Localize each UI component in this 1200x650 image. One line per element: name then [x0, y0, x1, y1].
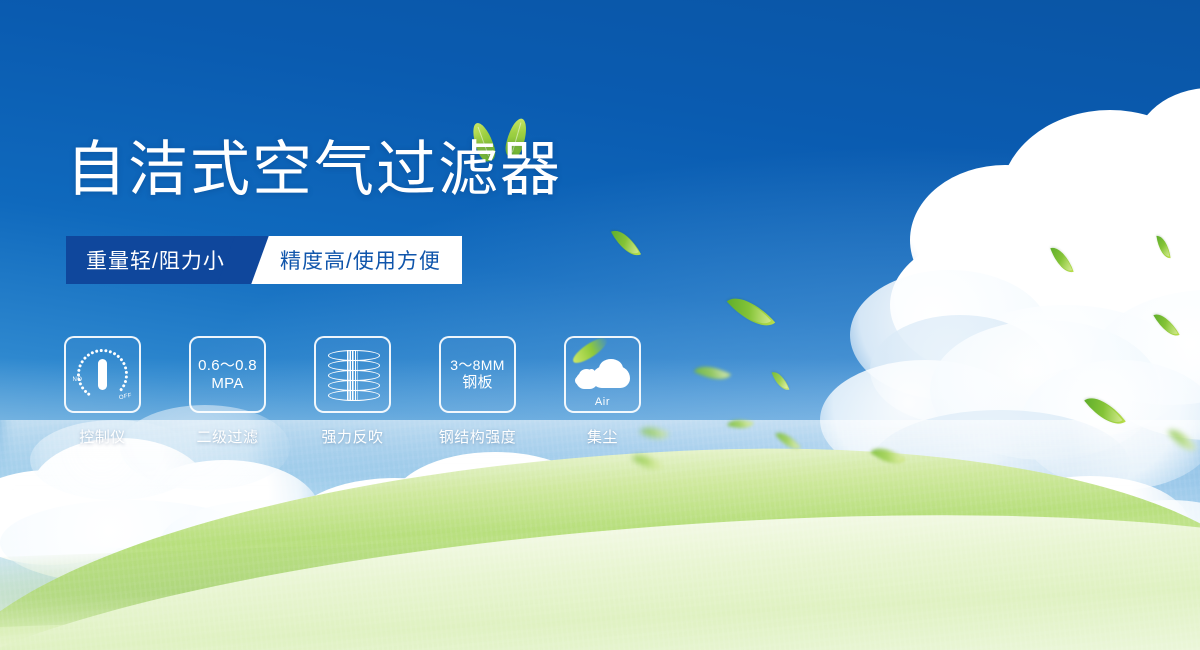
- dust-particle: [588, 369, 595, 376]
- steel-value-line1: 3～8MM: [450, 357, 504, 374]
- air-label: Air: [574, 396, 632, 408]
- feature-label: 控制仪: [79, 426, 126, 447]
- page-title: 自洁式空气过滤器: [66, 140, 562, 200]
- grass-texture: [0, 420, 1200, 650]
- feature-item-pulse-jet[interactable]: 强力反吹: [316, 336, 389, 447]
- feature-label: 二级过滤: [196, 426, 258, 447]
- gauge-icon: NO OFF: [74, 348, 132, 402]
- gauge-needle: [98, 359, 107, 390]
- feature-icon-box: [314, 336, 391, 413]
- feature-label: 强力反吹: [321, 426, 383, 447]
- feature-label: 集尘: [587, 426, 618, 447]
- feature-item-steel-strength[interactable]: 3～8MM 钢板 钢结构强度: [441, 336, 514, 447]
- feature-list: NO OFF 控制仪 0.6～0.8 MPA 二级过滤: [66, 336, 639, 447]
- subtitle-left-segment: 重量轻/阻力小: [66, 236, 243, 284]
- air-cloud-icon: Air: [574, 352, 632, 398]
- filter-stack-icon: [328, 348, 378, 402]
- feature-item-controller[interactable]: NO OFF 控制仪: [66, 336, 139, 447]
- feature-icon-box: Air: [564, 336, 641, 413]
- feature-item-dust-collection[interactable]: Air 集尘: [566, 336, 639, 447]
- feature-item-two-stage-filter[interactable]: 0.6～0.8 MPA 二级过滤: [191, 336, 264, 447]
- feature-icon-box: NO OFF: [64, 336, 141, 413]
- steel-value-line2: 钢板: [462, 374, 493, 392]
- feature-label: 钢结构强度: [439, 426, 517, 447]
- subtitle-bar: 重量轻/阻力小 精度高/使用方便: [66, 236, 462, 284]
- filter-core: [347, 350, 358, 400]
- pressure-value-line2: MPA: [211, 375, 243, 393]
- feature-icon-box: 3～8MM 钢板: [439, 336, 516, 413]
- feature-icon-box: 0.6～0.8 MPA: [189, 336, 266, 413]
- subtitle-right-segment: 精度高/使用方便: [243, 236, 462, 284]
- pressure-value-line1: 0.6～0.8: [198, 357, 257, 375]
- grass-field: [0, 420, 1200, 650]
- dust-particle: [575, 376, 584, 385]
- product-banner: 自洁式空气过滤器 重量轻/阻力小 精度高/使用方便: [0, 0, 1200, 650]
- gauge-on-label: NO: [73, 377, 83, 383]
